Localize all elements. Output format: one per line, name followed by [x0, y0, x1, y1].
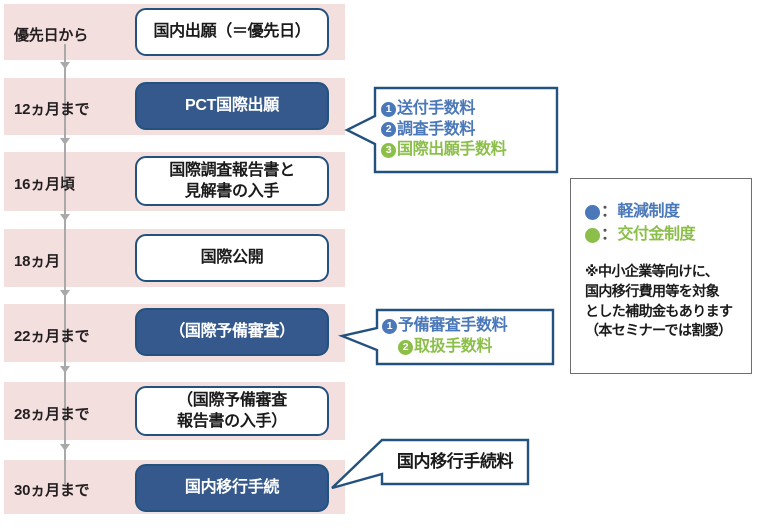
stage-box-pct-application[interactable]: PCT国際出願: [135, 82, 329, 130]
timeline-label-3: 18ヵ月: [14, 250, 124, 271]
fee-label: 取扱手数料: [414, 337, 492, 358]
fee-item: 2 調査手数料: [381, 120, 557, 141]
stage-box-international-publication[interactable]: 国際公開: [135, 234, 329, 282]
fee-number-icon: 2: [398, 340, 413, 355]
fee-number-icon: 1: [381, 102, 396, 117]
fee-number-icon: 1: [382, 319, 397, 334]
timeline-arrow-head: [60, 290, 70, 297]
fee-item: 3 国際出願手数料: [381, 140, 557, 161]
timeline-arrow-head: [60, 62, 70, 69]
stage-box-national-phase[interactable]: 国内移行手続: [135, 464, 329, 512]
fee-label: 予備審査手数料: [398, 316, 507, 337]
legend-note: ※中小企業等向けに、 国内移行費用等を対象 とした補助金もあります （本セミナー…: [585, 262, 751, 340]
timeline-arrow-head: [60, 444, 70, 451]
stage-box-text: 国内移行手続: [185, 477, 279, 498]
fee-item: 1 予備審査手数料: [382, 316, 553, 337]
timeline-label-1: 12ヵ月まで: [14, 98, 124, 119]
legend-label: 交付金制度: [618, 224, 696, 247]
fee-number-icon: 3: [381, 143, 396, 158]
fee-number-icon: 2: [381, 122, 396, 137]
fee-item: 1 送付手数料: [381, 99, 557, 120]
stage-box-text: PCT国際出願: [185, 95, 279, 116]
stage-box-text: 国際公開: [201, 247, 264, 268]
stage-box-text: （国際予備審査）: [169, 321, 295, 342]
national-fee-label: 国内移行手続料: [397, 451, 513, 473]
callout-national-fee[interactable]: 国内移行手続料: [330, 438, 545, 500]
stage-box-preliminary-examination[interactable]: （国際予備審査）: [135, 308, 329, 356]
legend-label: 軽減制度: [618, 201, 680, 224]
stage-box-search-report[interactable]: 国際調査報告書と見解書の入手: [135, 156, 329, 206]
stage-box-text: 国内出願（＝優先日）: [153, 21, 310, 42]
legend-note-line: ※中小企業等向けに、: [585, 262, 751, 282]
timeline-arrow-head: [60, 366, 70, 373]
timeline-arrow-head: [60, 138, 70, 145]
timeline-label-4: 22ヵ月まで: [14, 325, 124, 346]
fee-label: 送付手数料: [397, 99, 475, 120]
stage-box-text: （国際予備審査報告書の入手）: [177, 390, 287, 432]
timeline-label-2: 16ヵ月頃: [14, 173, 124, 194]
timeline-arrow-head: [60, 214, 70, 221]
legend-panel: ： 軽減制度 ： 交付金制度 ※中小企業等向けに、 国内移行費用等を対象 とした…: [570, 178, 752, 374]
callout-exam-fees[interactable]: 1 予備審査手数料 2 取扱手数料: [340, 306, 555, 368]
timeline-label-5: 28ヵ月まで: [14, 403, 124, 424]
callout-pct-fees-text: 1 送付手数料 2 調査手数料 3 国際出願手数料: [381, 88, 557, 172]
stage-box-preliminary-report[interactable]: （国際予備審査報告書の入手）: [135, 386, 329, 436]
legend-separator: ：: [601, 224, 617, 247]
stage-box-text: 国際調査報告書と見解書の入手: [169, 160, 295, 202]
callout-exam-fees-text: 1 予備審査手数料 2 取扱手数料: [382, 310, 553, 364]
legend-note-line: とした補助金もあります: [585, 302, 751, 322]
callout-national-fee-text: 国内移行手続料: [382, 440, 528, 484]
legend-separator: ：: [601, 201, 617, 224]
timeline-label-0: 優先日から: [14, 24, 124, 45]
legend-entry-reduction: ： 軽減制度: [585, 201, 751, 224]
legend-entry-grant: ： 交付金制度: [585, 224, 751, 247]
pct-timeline-diagram: 優先日から 12ヵ月まで 16ヵ月頃 18ヵ月 22ヵ月まで 28ヵ月まで 30…: [0, 0, 770, 531]
callout-pct-fees[interactable]: 1 送付手数料 2 調査手数料 3 国際出願手数料: [345, 82, 565, 178]
green-dot-icon: [585, 228, 600, 243]
fee-item: 2 取扱手数料: [382, 337, 553, 358]
fee-label: 調査手数料: [397, 120, 475, 141]
blue-dot-icon: [585, 205, 600, 220]
fee-label: 国際出願手数料: [397, 140, 506, 161]
stage-box-national-application[interactable]: 国内出願（＝優先日）: [135, 8, 329, 56]
legend-note-line: 国内移行費用等を対象: [585, 282, 751, 302]
timeline-label-6: 30ヵ月まで: [14, 479, 124, 500]
legend-note-line: （本セミナーでは割愛）: [585, 321, 751, 341]
